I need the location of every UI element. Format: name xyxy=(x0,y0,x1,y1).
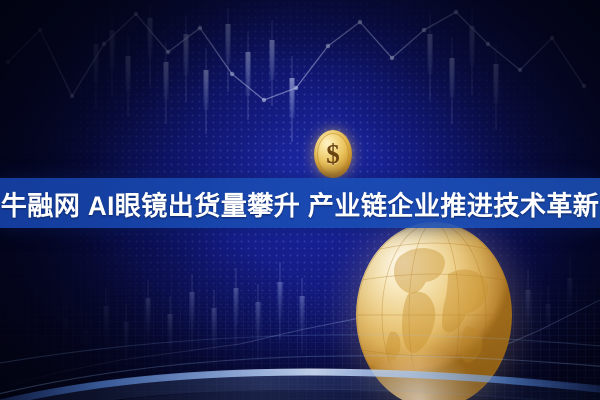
golden-globe-graphic xyxy=(356,222,512,400)
dollar-sign-icon: $ xyxy=(314,130,352,178)
gold-coin-icon: $ xyxy=(314,130,352,178)
page-title: 牛融网 AI眼镜出货量攀升 产业链企业推进技术革新 xyxy=(5,178,596,228)
news-banner: $ xyxy=(0,0,600,400)
globe-shading xyxy=(356,222,512,400)
